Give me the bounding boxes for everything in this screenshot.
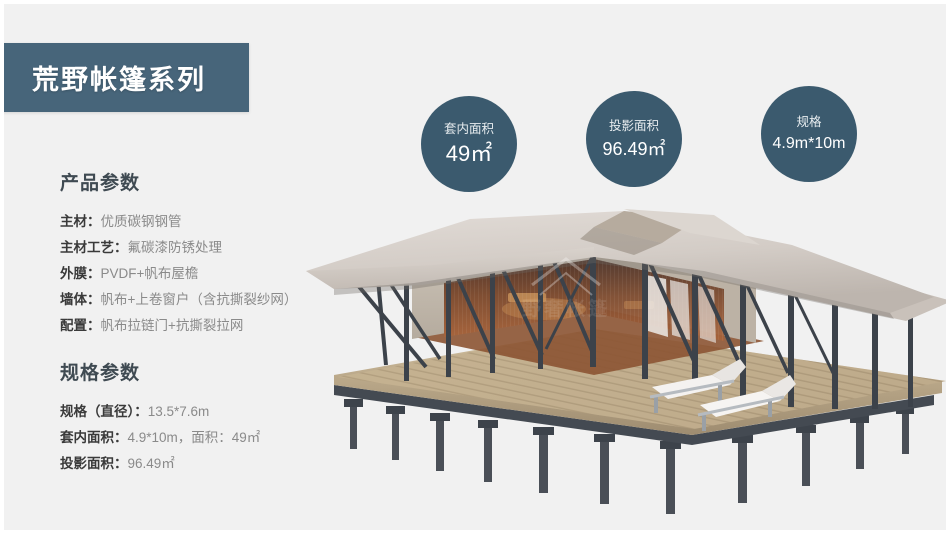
param-row: 套内面积：4.9*10m，面积：49㎡ [60, 425, 260, 451]
watermark-label: 野奢帐篷 [522, 297, 610, 320]
param-row: 规格（直径）：13.5*7.6m [60, 399, 260, 425]
spec-params-heading: 规格参数 [60, 358, 260, 385]
param-value: 13.5*7.6m [148, 404, 210, 419]
param-row: 墙体：帆布+上卷窗户（含抗撕裂纱网） [60, 287, 297, 313]
param-row: 配置：帆布拉链门+抗撕裂拉网 [60, 313, 297, 339]
param-row: 投影面积：96.49㎡ [60, 451, 260, 477]
stat-badge-dimensions: 规格 4.9m*10m [761, 86, 857, 182]
product-params-heading: 产品参数 [60, 168, 297, 195]
param-value: 4.9*10m，面积：49㎡ [128, 430, 261, 445]
title-banner: 荒野帐篷系列 [0, 43, 249, 112]
param-value: 96.49㎡ [128, 456, 175, 471]
tent-lodge-render-image: 野奢帐篷 [294, 209, 950, 529]
param-label: 外膜： [60, 266, 101, 281]
param-label: 套内面积： [60, 430, 128, 445]
stat-label: 套内面积 [444, 123, 494, 136]
param-label: 墙体： [60, 292, 101, 307]
param-label: 规格（直径）： [60, 404, 148, 419]
param-row: 主材：优质碳钢钢管 [60, 209, 297, 235]
product-params-section: 产品参数 主材：优质碳钢钢管 主材工艺：氟碳漆防锈处理 外膜：PVDF+帆布屋檐… [60, 168, 297, 339]
stat-badge-interior-area: 套内面积 49㎡ [421, 96, 517, 192]
param-label: 配置： [60, 318, 101, 333]
stat-value: 96.49㎡ [602, 140, 665, 158]
stat-label: 规格 [796, 116, 821, 129]
stat-badge-projected-area: 投影面积 96.49㎡ [586, 91, 682, 187]
param-value: 优质碳钢钢管 [101, 214, 182, 229]
param-label: 主材工艺： [60, 240, 128, 255]
param-row: 主材工艺：氟碳漆防锈处理 [60, 235, 297, 261]
param-value: PVDF+帆布屋檐 [101, 266, 199, 281]
param-label: 主材： [60, 214, 101, 229]
param-label: 投影面积： [60, 456, 128, 471]
spec-params-section: 规格参数 规格（直径）：13.5*7.6m 套内面积：4.9*10m，面积：49… [60, 358, 260, 477]
stat-label: 投影面积 [609, 120, 659, 133]
stat-value: 4.9m*10m [773, 136, 846, 152]
slide-canvas: 荒野帐篷系列 产品参数 主材：优质碳钢钢管 主材工艺：氟碳漆防锈处理 外膜：PV… [0, 0, 950, 534]
param-value: 帆布+上卷窗户（含抗撕裂纱网） [101, 292, 298, 307]
stat-value: 49㎡ [446, 143, 492, 165]
param-value: 氟碳漆防锈处理 [128, 240, 223, 255]
param-value: 帆布拉链门+抗撕裂拉网 [101, 318, 244, 333]
page-title: 荒野帐篷系列 [32, 58, 206, 97]
param-row: 外膜：PVDF+帆布屋檐 [60, 261, 297, 287]
